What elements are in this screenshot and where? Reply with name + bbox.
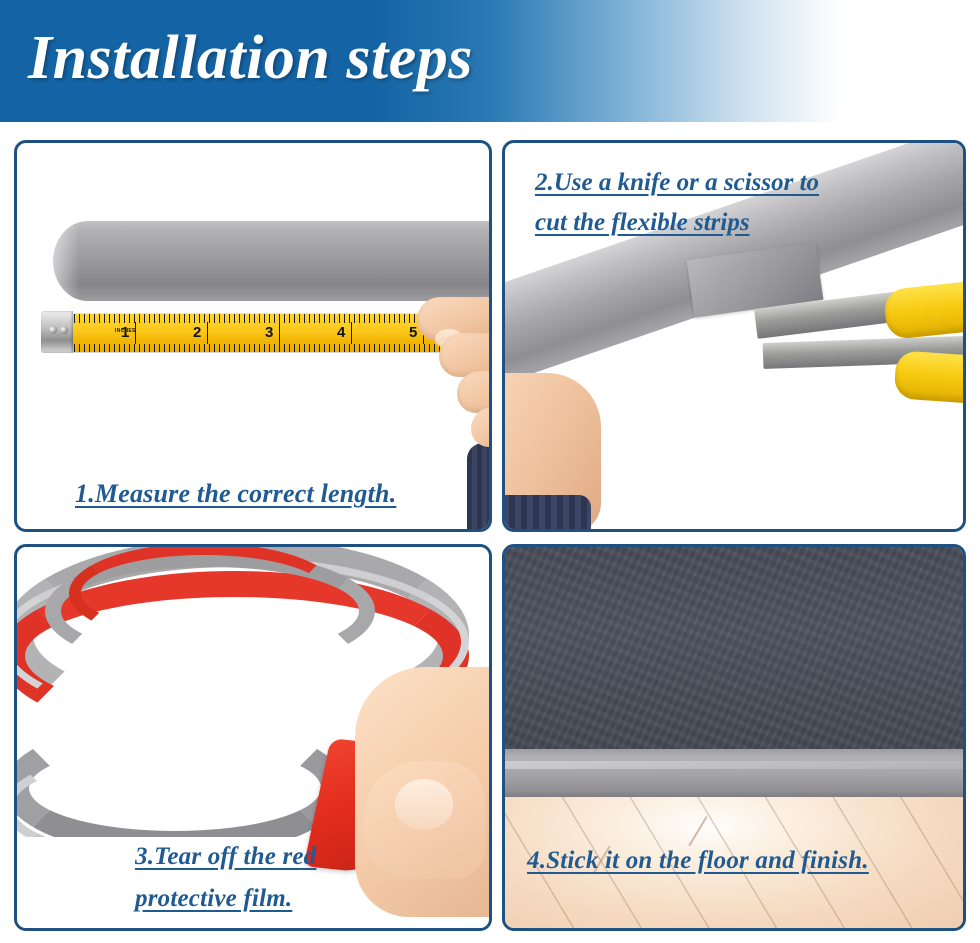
page-title: Installation steps <box>28 22 473 94</box>
step-1-panel: INCHES 1 2 3 4 5 <box>14 140 492 532</box>
step-2-panel: 2.Use a knife or a scissor to cut the fl… <box>502 140 966 532</box>
step-1-caption: 1.Measure the correct length. <box>75 479 396 509</box>
tape-tick-3: 3 <box>265 323 273 343</box>
tape-tick-1: 1 <box>121 323 129 343</box>
step-3-panel: 3.Tear off the red protective film. <box>14 544 492 931</box>
header-banner: Installation steps <box>0 0 980 122</box>
scissor-handle-lower <box>893 350 963 408</box>
tape-tick-2: 2 <box>193 323 201 343</box>
tape-rivet <box>60 326 68 334</box>
step-2-caption: 2.Use a knife or a scissor to cut the fl… <box>535 169 819 237</box>
coil-inner-red <box>69 547 339 643</box>
step-4-caption: 4.Stick it on the floor and finish. <box>527 847 869 875</box>
tape-tick-4: 4 <box>337 323 345 343</box>
step-3-caption-line1: 3.Tear off the red <box>135 843 316 871</box>
installation-steps-page: Installation steps INCHES 1 2 <box>0 0 980 943</box>
steps-grid: INCHES 1 2 3 4 5 <box>0 128 980 943</box>
step-2-caption-line1: 2.Use a knife or a scissor to <box>535 169 819 197</box>
sleeve-cuff <box>505 495 591 529</box>
finger <box>471 407 489 447</box>
tape-measure-photo: INCHES 1 2 3 4 5 <box>17 143 489 529</box>
step-3-caption-line2: protective film. <box>135 885 292 913</box>
step-4-panel: 4.Stick it on the floor and finish. <box>502 544 966 931</box>
tape-hook <box>41 311 73 353</box>
step-2-caption-line2: cut the flexible strips <box>535 209 819 237</box>
tape-measure: INCHES 1 2 3 4 5 <box>41 313 441 351</box>
dark-wall <box>505 547 963 749</box>
tape-blade: INCHES 1 2 3 4 5 <box>69 313 441 353</box>
hand <box>411 271 489 471</box>
installed-gray-strip <box>505 749 963 797</box>
finger <box>457 371 489 413</box>
scissor-handle-upper <box>883 276 963 340</box>
tape-rivet <box>49 326 57 334</box>
thumbnail <box>395 779 453 829</box>
